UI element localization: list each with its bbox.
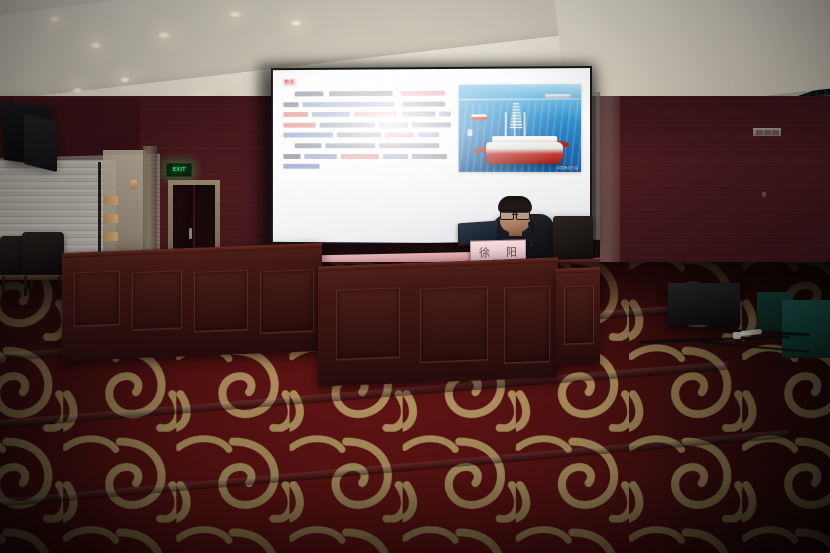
slide-text-run xyxy=(283,123,315,128)
ceiling-downlight-2 xyxy=(90,42,102,49)
exit-sign-label: EXIT xyxy=(172,167,185,172)
eyeglasses-icon xyxy=(500,211,530,218)
supply-vessel xyxy=(471,114,487,120)
desk-recessed-panel-3 xyxy=(194,270,248,332)
slide-text-line xyxy=(283,91,451,97)
nameplate-char-1: 徐 xyxy=(479,247,490,259)
slide-text-block xyxy=(283,91,451,175)
slide-text-run xyxy=(304,154,337,159)
door-handle[interactable] xyxy=(189,228,192,239)
slide-text-run xyxy=(283,112,308,117)
slide-text-run xyxy=(329,91,392,96)
wall-sconce-light xyxy=(131,180,137,189)
slide-text-line xyxy=(283,143,451,148)
ceiling-downlight-4 xyxy=(228,11,242,18)
wall-socket-plate[interactable] xyxy=(753,128,781,136)
desk-recessed-panel-2 xyxy=(420,286,488,363)
slide-text-run xyxy=(439,112,451,117)
desk-row-right-stub xyxy=(556,267,600,365)
slide-text-run xyxy=(412,122,451,127)
nameplate-char-2: 阳 xyxy=(506,247,517,259)
photo-caption: 中国海洋石油 xyxy=(557,166,578,170)
distant-ship xyxy=(545,94,571,98)
audience-chair-2[interactable] xyxy=(22,232,64,276)
slide-text-run xyxy=(400,91,445,96)
wall-marker-dot xyxy=(762,192,766,197)
slide-text-run xyxy=(283,154,300,159)
chair-leg-1 xyxy=(24,276,27,296)
desk-recessed-panel-1 xyxy=(336,287,400,359)
ceiling-downlight-9 xyxy=(290,20,302,27)
slide-text-line xyxy=(283,122,451,127)
wall-plaque-group xyxy=(104,196,118,258)
ceiling-downlight-3 xyxy=(157,32,171,39)
desk-recessed-panel-3 xyxy=(504,286,550,364)
slide-text-run xyxy=(402,101,445,106)
slide-text-run xyxy=(418,133,439,138)
slide-text-run xyxy=(312,112,350,117)
slide-text-run xyxy=(412,154,447,159)
offshore-oil-platform-photo: 中国海洋石油 xyxy=(459,84,581,172)
black-equipment-case xyxy=(668,283,740,325)
desk-row-back-left xyxy=(62,243,322,361)
sea-horizon-line xyxy=(459,98,581,101)
slide-text-run xyxy=(295,91,324,96)
chair-leg-2 xyxy=(58,276,61,296)
slide-text-line xyxy=(283,164,451,169)
ceiling-speaker-secondary xyxy=(24,114,57,172)
slide-text-run xyxy=(283,164,319,169)
slide-text-run xyxy=(283,102,298,107)
slide-text-line xyxy=(283,101,451,107)
slide-text-run xyxy=(402,112,435,117)
ceiling-downlight-7 xyxy=(120,77,130,83)
desk-recessed-panel-4 xyxy=(260,269,314,333)
slide-text-run xyxy=(341,154,379,159)
microphone-head xyxy=(528,221,534,227)
slide-text-line xyxy=(283,133,451,138)
desk-top-cap xyxy=(556,267,600,274)
slide-text-run xyxy=(337,133,381,138)
slide-text-run xyxy=(302,101,394,106)
slide-text-run xyxy=(385,133,414,138)
slide-text-run xyxy=(295,143,322,148)
slide-text-run xyxy=(320,122,376,127)
desk-recessed-panel-1 xyxy=(74,271,120,327)
slide-section-tag: 前言 xyxy=(282,79,296,87)
chair-leg-1 xyxy=(2,276,5,296)
sea-buoy xyxy=(468,129,473,136)
slide-text-run xyxy=(283,133,333,138)
conference-hall-photo: EXIT 前言 xyxy=(0,0,830,553)
slide-text-line xyxy=(283,154,451,159)
slide-text-run xyxy=(354,112,396,117)
desk-row-front xyxy=(318,257,558,386)
ceiling-downlight-5 xyxy=(72,88,83,94)
slide-text-run xyxy=(325,143,375,148)
desk-recessed-panel-2 xyxy=(132,270,182,330)
slide-text-line xyxy=(283,112,451,117)
slide-text-run xyxy=(379,122,408,127)
rig-hull xyxy=(486,142,563,164)
slide-text-run xyxy=(379,143,439,148)
ceiling-downlight-1 xyxy=(48,16,61,23)
exit-sign: EXIT xyxy=(166,163,192,177)
slide-text-run xyxy=(383,154,408,159)
desk-recessed-panel-1 xyxy=(564,285,594,344)
cable-plug xyxy=(733,332,741,339)
